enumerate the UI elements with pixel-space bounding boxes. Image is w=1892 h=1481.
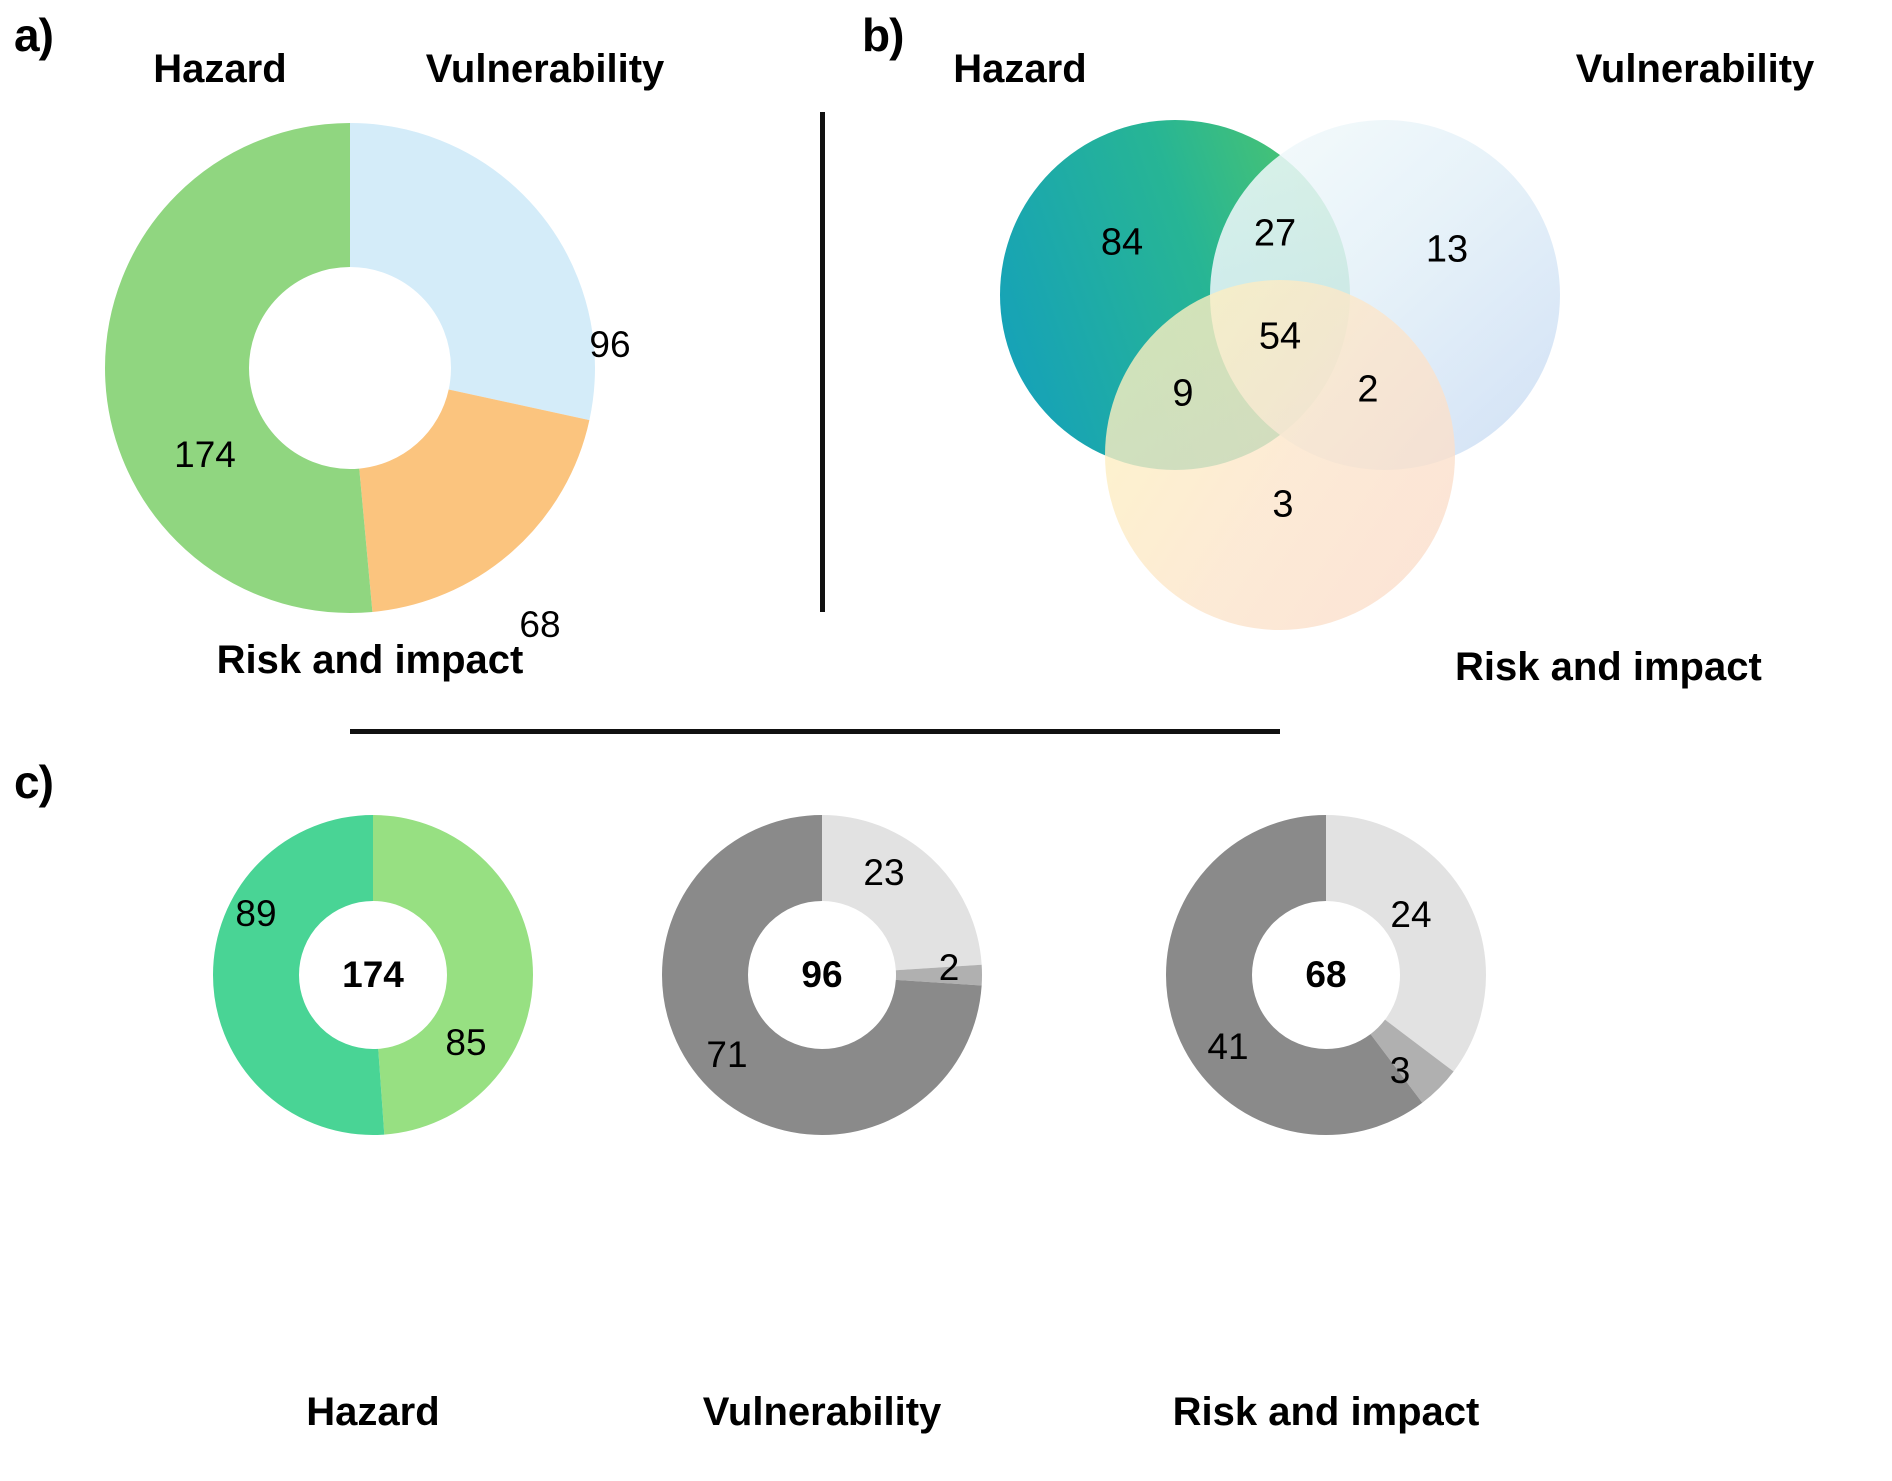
panel-c-hazard-caption: Hazard — [193, 1390, 553, 1435]
panel-c-risk-value-left: 41 — [1207, 1026, 1248, 1068]
panel-c-risk-caption: Risk and impact — [1126, 1390, 1526, 1435]
venn-value-vulnerability-only: 13 — [1426, 229, 1468, 272]
panel-a-donut-chart — [95, 118, 615, 618]
panel-a-header-hazard: Hazard — [80, 47, 360, 92]
panel-c-vulnerability-value-left: 71 — [706, 1034, 747, 1076]
venn-value-all-three: 54 — [1259, 316, 1301, 359]
panel-b-header-vulnerability: Vulnerability — [1530, 47, 1860, 92]
panel-a-caption: Risk and impact — [150, 638, 590, 683]
panel-c-hazard-center: 174 — [342, 954, 404, 996]
panel-c-vulnerability-value-top: 23 — [863, 852, 904, 894]
panel-b-venn-diagram — [960, 110, 1600, 640]
venn-value-hazard-risk: 9 — [1172, 373, 1193, 416]
panel-c-letter: c) — [14, 755, 53, 809]
venn-value-vulnerability-risk: 2 — [1357, 369, 1378, 412]
horizontal-divider — [350, 729, 1280, 734]
panel-c-risk-center: 68 — [1305, 954, 1346, 996]
panel-c-hazard-value-right: 85 — [445, 1022, 486, 1064]
vertical-divider — [820, 112, 825, 612]
panel-c-risk-value-top: 24 — [1390, 894, 1431, 936]
panel-c-vulnerability-value-small: 2 — [939, 947, 960, 989]
panel-c-risk-value-small: 3 — [1390, 1050, 1411, 1092]
venn-value-hazard-only: 84 — [1101, 222, 1143, 265]
panel-a-header-vulnerability: Vulnerability — [380, 47, 710, 92]
panel-c-vulnerability-center: 96 — [801, 954, 842, 996]
panel-b-caption: Risk and impact — [1455, 645, 1892, 690]
panel-a-value-hazard: 174 — [174, 434, 236, 476]
panel-c-hazard-value-left: 89 — [235, 893, 276, 935]
panel-a-letter: a) — [14, 8, 53, 62]
venn-value-risk-only: 3 — [1272, 484, 1293, 527]
panel-c-vulnerability-caption: Vulnerability — [642, 1390, 1002, 1435]
venn-value-hazard-vulnerability: 27 — [1254, 213, 1296, 256]
panel-a-value-vulnerability: 96 — [589, 324, 630, 366]
panel-b-header-hazard: Hazard — [880, 47, 1160, 92]
